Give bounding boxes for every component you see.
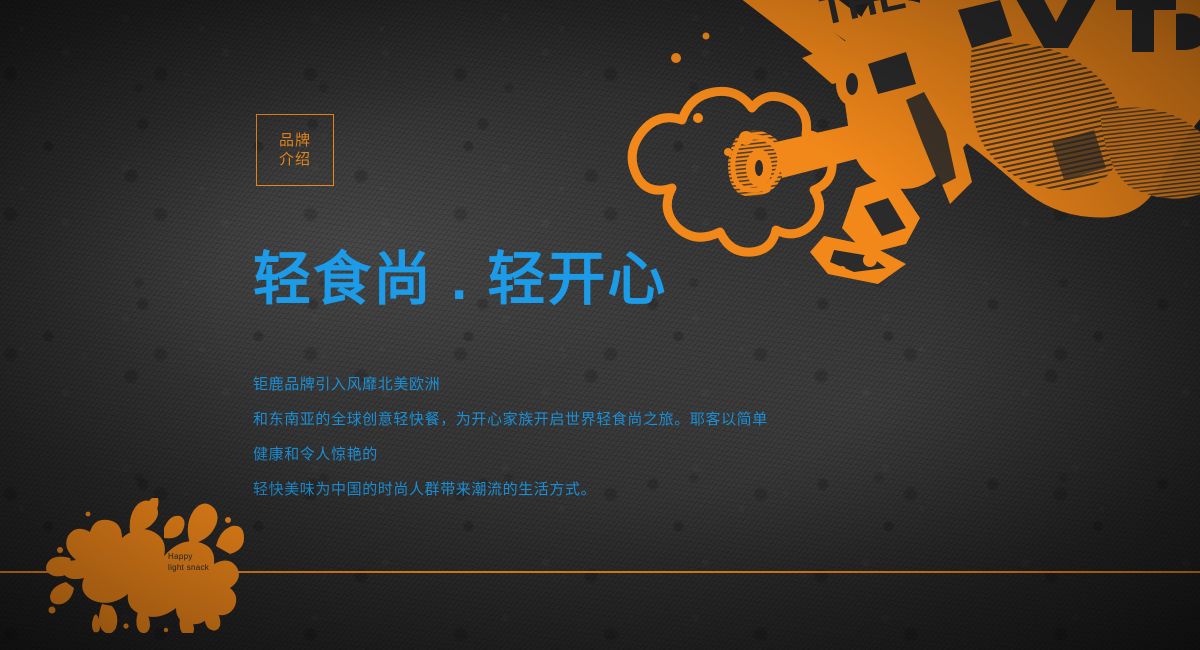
badge-line-1: 品牌 [279,133,311,149]
body-line: 钜鹿品牌引入风靡北美欧洲 [253,367,893,402]
splash-tagline-line-2: light snack [168,562,209,573]
splash-tagline: Happy light snack [168,551,209,573]
body-line: 和东南亚的全球创意轻快餐，为开心家族开启世界轻食尚之旅。耶客以简单 [253,402,893,437]
body-line: 健康和令人惊艳的 [253,437,893,472]
headline-title: 轻食尚 . 轻开心 [253,251,667,309]
badge-line-2: 介绍 [279,152,311,168]
slide-canvas: THE [0,0,1200,650]
body-copy: 钜鹿品牌引入风靡北美欧洲 和东南亚的全球创意轻快餐，为开心家族开启世界轻食尚之旅… [253,367,893,507]
body-line: 轻快美味为中国的时尚人群带来潮流的生活方式。 [253,472,893,507]
splash-tagline-line-1: Happy [168,551,209,562]
brand-intro-badge[interactable]: 品牌 介绍 [256,114,334,186]
